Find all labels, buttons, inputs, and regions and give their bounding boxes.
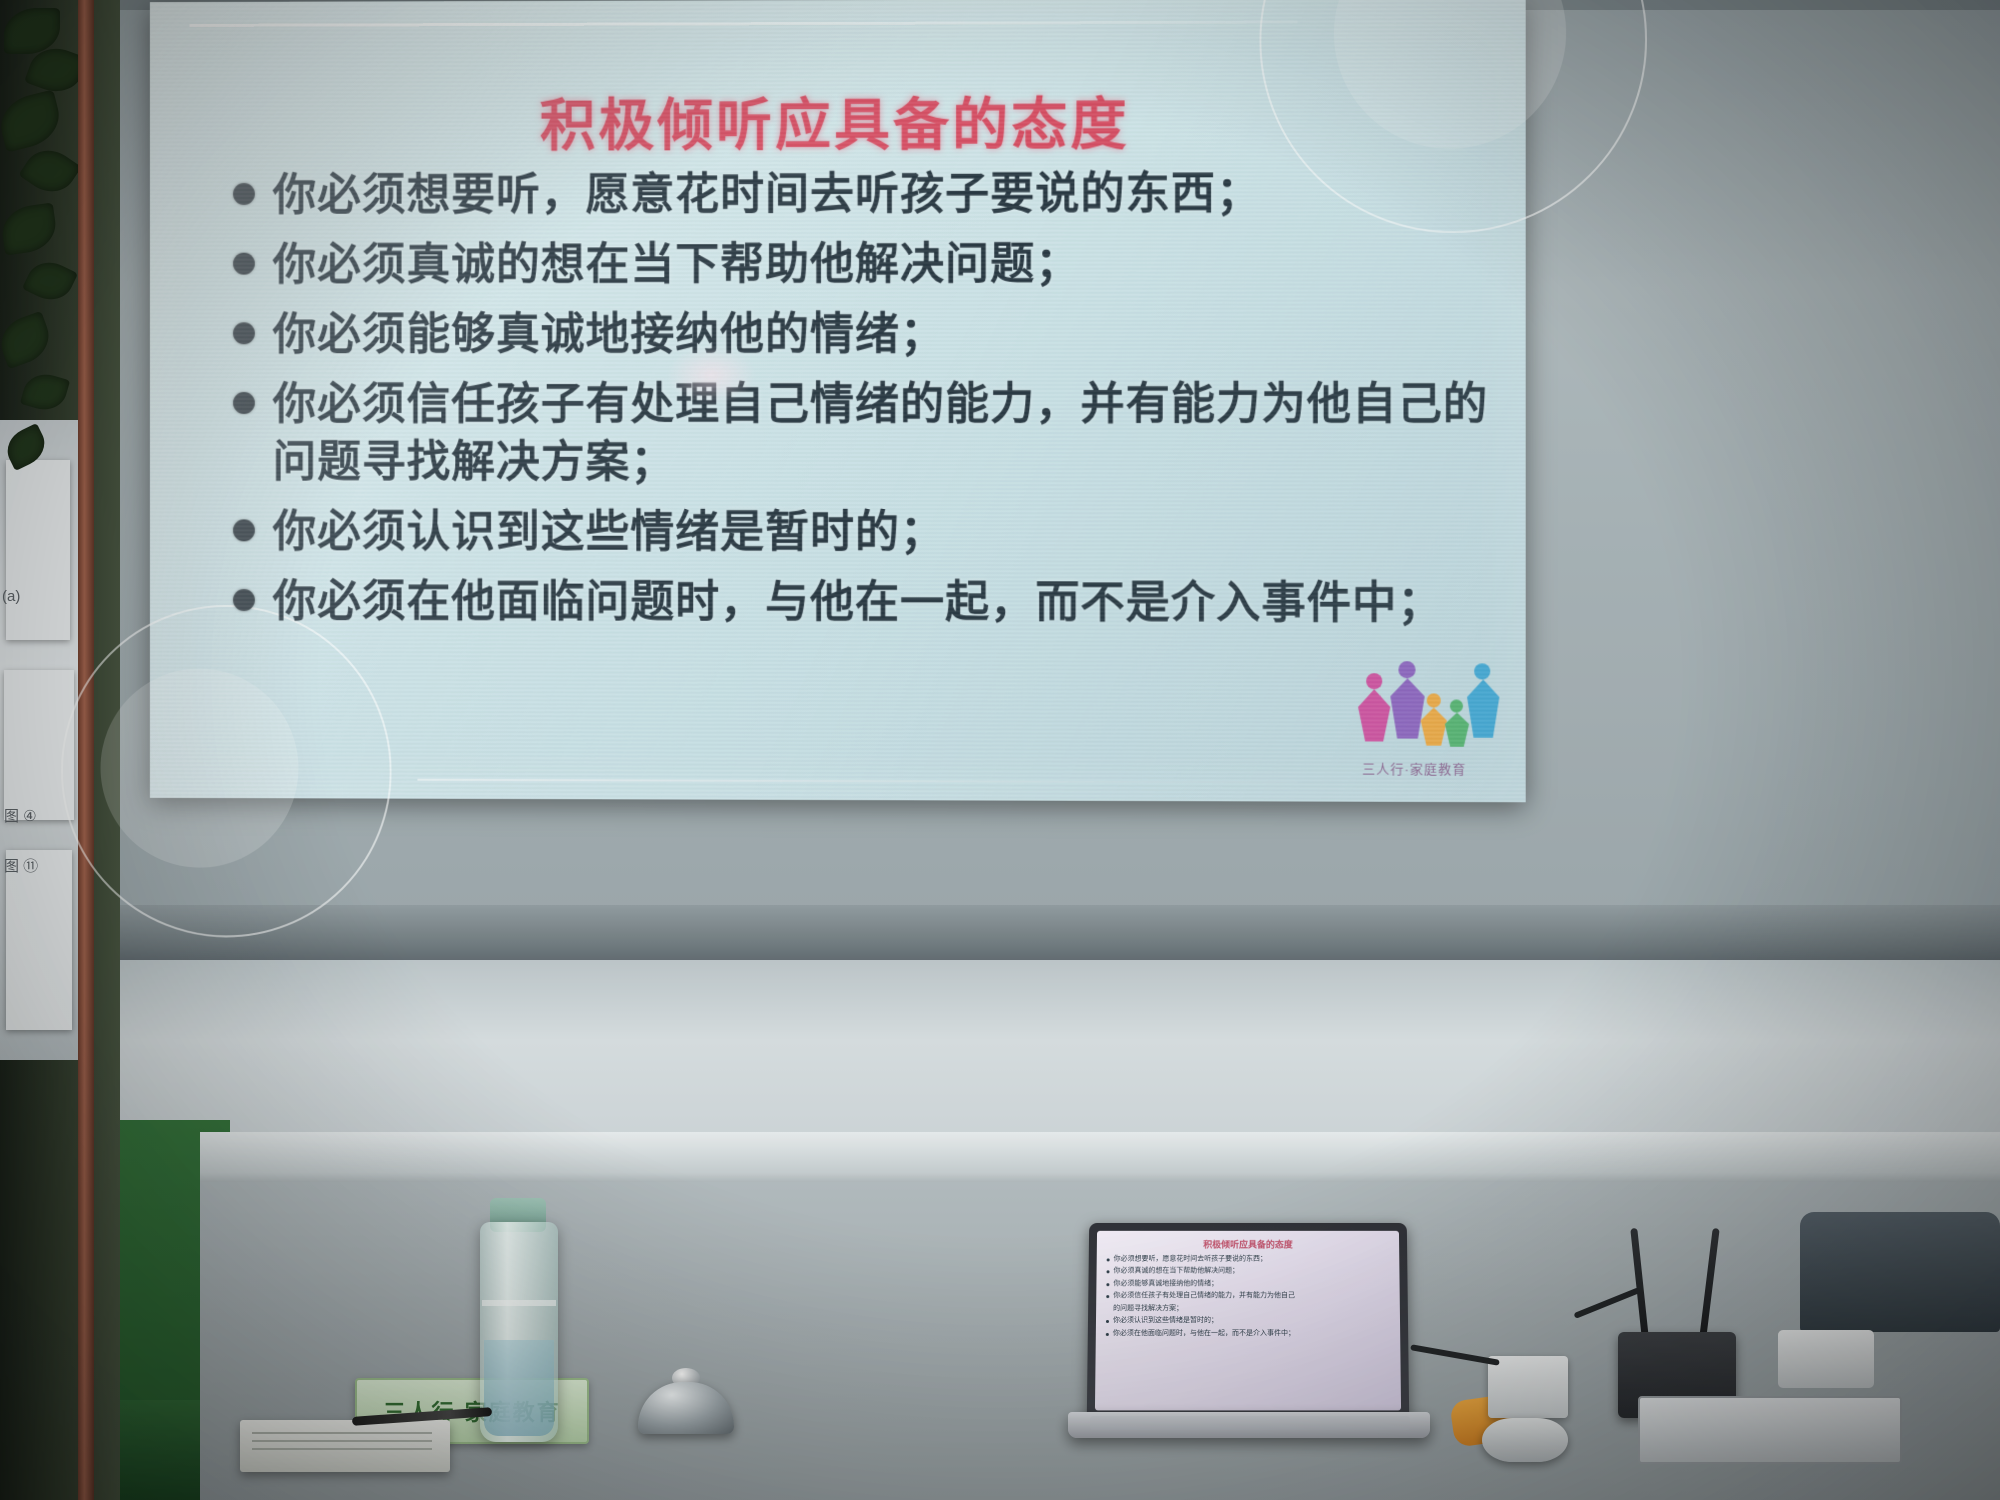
laptop-bullet-text: 你必须在他面临问题时，与他在一起，而不是介入事件中；	[1113, 1329, 1295, 1338]
slide-top-rule	[190, 21, 1298, 27]
power-adapter	[1778, 1330, 1874, 1388]
laptop-bullet-text: 你必须信任孩子有处理自己情绪的能力，并有能力为他自己	[1113, 1291, 1295, 1300]
bullet-text: 你必须真诚的想在当下帮助他解决问题；	[273, 236, 1081, 295]
laptop-bullet-dot-icon	[1106, 1283, 1109, 1286]
slide-bullet-item: 你必须想要听，愿意花时间去听孩子要说的东西；	[225, 165, 1526, 225]
notebook[interactable]	[240, 1420, 450, 1472]
slide-decor-circle-4	[101, 668, 299, 868]
classroom-scene: (a) 图 ④ 图 ⑪ 积极倾听应具备的态度 你必须想要听，愿意花时间去听孩子要…	[0, 0, 2000, 1500]
wall-paper-3	[6, 850, 72, 1030]
bullet-text: 你必须信任孩子有处理自己情绪的能力，并有能力为他自己的问题寻找解决方案；	[273, 376, 1526, 493]
bullet-text: 你必须认识到这些情绪是暂时的；	[273, 504, 945, 563]
family-logo-icon: 三人行·家庭教育	[1356, 649, 1507, 780]
laptop-bullet-dot-icon	[1106, 1333, 1109, 1336]
whiteboard-marker-tray	[86, 905, 2000, 965]
laptop-bullet-text: 你必须认识到这些情绪是暂时的；	[1113, 1316, 1218, 1325]
bullet-dot-icon	[233, 323, 255, 345]
bottle-ring	[482, 1300, 556, 1306]
laptop-bullet-spacer-icon	[1106, 1308, 1109, 1311]
slide-bullet-item: 你必须在他面临问题时，与他在一起，而不是介入事件中；	[225, 574, 1526, 634]
notebook-lines	[252, 1432, 432, 1434]
projection-screen: 积极倾听应具备的态度 你必须想要听，愿意花时间去听孩子要说的东西； 你必须真诚的…	[150, 0, 1526, 802]
laptop-bullet-text: 的问题寻找解决方案；	[1113, 1304, 1183, 1313]
laptop-lid: 积极倾听应具备的态度 你必须想要听，愿意花时间去听孩子要说的东西； 你必须真诚的…	[1087, 1223, 1409, 1419]
computer-mouse[interactable]	[1482, 1418, 1568, 1462]
laptop-bullet-text: 你必须真诚的想在当下帮助他解决问题；	[1113, 1267, 1239, 1276]
laptop-bullet-text: 你必须想要听，愿意花时间去听孩子要说的东西；	[1114, 1254, 1267, 1263]
wall-note-a: (a)	[2, 588, 20, 605]
slide-bullet-list: 你必须想要听，愿意花时间去听孩子要说的东西； 你必须真诚的想在当下帮助他解决问题…	[225, 165, 1526, 646]
bullet-text: 你必须想要听，愿意花时间去听孩子要说的东西；	[273, 165, 1262, 225]
bullet-dot-icon	[233, 253, 255, 275]
family-logo-caption: 三人行·家庭教育	[1362, 759, 1466, 778]
white-device-box[interactable]	[1488, 1356, 1568, 1418]
bullet-dot-icon	[233, 183, 255, 205]
laptop-slide-bullets: 你必须想要听，愿意花时间去听孩子要说的东西； 你必须真诚的想在当下帮助他解决问题…	[1106, 1254, 1392, 1341]
wall-note-b: 图 ④	[4, 805, 37, 826]
bullet-text: 你必须能够真诚地接纳他的情绪；	[273, 306, 945, 364]
laptop-bullet-text: 你必须能够真诚地接纳他的情绪；	[1113, 1279, 1218, 1288]
laptop-bullet-dot-icon	[1106, 1320, 1109, 1323]
laptop-slide-title: 积极倾听应具备的态度	[1097, 1238, 1399, 1251]
laptop-keyboard[interactable]	[1090, 1416, 1410, 1430]
slide-bullet-item: 你必须能够真诚地接纳他的情绪；	[225, 306, 1526, 365]
wall-note-c: 图 ⑪	[4, 855, 38, 876]
bullet-dot-icon	[233, 590, 255, 612]
chair-back	[1800, 1212, 2000, 1332]
projector-hotspot	[666, 345, 756, 405]
laptop-bullet-dot-icon	[1107, 1258, 1110, 1261]
laptop-screen[interactable]: 积极倾听应具备的态度 你必须想要听，愿意花时间去听孩子要说的东西； 你必须真诚的…	[1095, 1231, 1401, 1411]
bullet-dot-icon	[233, 520, 255, 542]
laptop-bullet-dot-icon	[1106, 1295, 1109, 1298]
slide-title: 积极倾听应具备的态度	[150, 78, 1526, 162]
laptop-bullet-dot-icon	[1107, 1271, 1110, 1274]
bullet-dot-icon	[233, 392, 255, 414]
bottle-water-level	[484, 1340, 554, 1436]
slide-bottom-rule	[417, 779, 1297, 784]
slide-bullet-item: 你必须信任孩子有处理自己情绪的能力，并有能力为他自己的问题寻找解决方案；	[225, 376, 1526, 493]
slide-bullet-item: 你必须认识到这些情绪是暂时的；	[225, 504, 1526, 563]
slide-bullet-item: 你必须真诚的想在当下帮助他解决问题；	[225, 235, 1526, 295]
bullet-text: 你必须在他面临问题时，与他在一起，而不是介入事件中；	[273, 574, 1443, 634]
desk-tray	[1638, 1396, 1902, 1464]
